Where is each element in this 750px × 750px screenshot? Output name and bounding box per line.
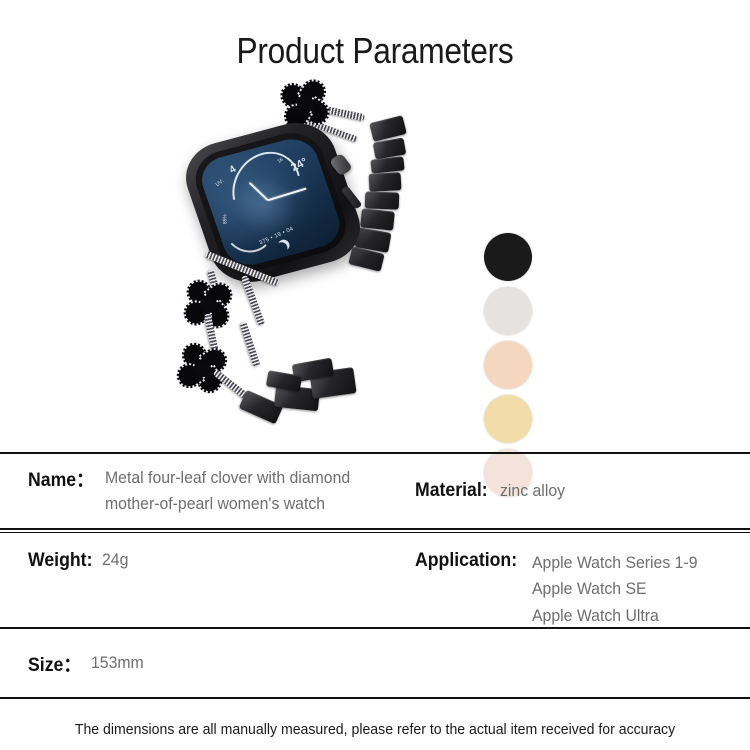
side-button <box>341 186 362 210</box>
band-link <box>360 208 395 230</box>
spec-cell-size: Size： 153mm <box>0 650 415 677</box>
band-chain <box>240 322 261 368</box>
clover-charm <box>278 77 331 130</box>
band-chain <box>241 275 265 326</box>
moon-icon <box>276 238 291 253</box>
spec-label-size: Size： <box>28 650 81 677</box>
watch-screen: UV: 4 16 24° 85% 375 • 19 • 04 <box>195 133 346 270</box>
spec-label-material: Material: <box>415 480 488 502</box>
spec-value-material: zinc alloy <box>500 481 565 501</box>
color-swatch-gold[interactable] <box>484 395 532 443</box>
product-photo: UV: 4 16 24° 85% 375 • 19 • 04 <box>175 85 425 440</box>
band-link <box>365 191 400 209</box>
band-link <box>370 156 404 173</box>
table-row-name: Name： Metal four-leaf clover with diamon… <box>0 454 750 528</box>
spec-value-size: 153mm <box>91 653 144 673</box>
spec-label-name: Name： <box>28 465 94 492</box>
battery-label: 85% <box>223 214 228 224</box>
color-swatch-black[interactable] <box>484 233 532 281</box>
spec-value-name: Metal four-leaf clover with diamond moth… <box>105 465 350 518</box>
spec-cell-application: Application: Apple Watch Series 1-9 Appl… <box>415 533 750 627</box>
spec-value-name-line: Metal four-leaf clover with diamond <box>105 465 350 491</box>
spec-value-application-line: Apple Watch Series 1-9 <box>532 550 697 576</box>
uv-label: UV: <box>215 179 225 188</box>
table-row-weight: Weight: 24g Application: Apple Watch Ser… <box>0 533 750 627</box>
spec-value-application: Apple Watch Series 1-9 Apple Watch SE Ap… <box>532 550 697 629</box>
spec-table: Name： Metal four-leaf clover with diamon… <box>0 452 750 738</box>
watch-case: UV: 4 16 24° 85% 375 • 19 • 04 <box>176 114 370 291</box>
spec-label-weight: Weight: <box>28 550 92 572</box>
color-swatch-silver[interactable] <box>484 287 532 335</box>
band-link <box>369 172 402 192</box>
digital-crown <box>329 153 353 177</box>
clover-charm <box>174 340 230 396</box>
hero-section: UV: 4 16 24° 85% 375 • 19 • 04 <box>0 85 750 440</box>
page-title: Product Parameters <box>45 30 705 72</box>
spec-value-application-line: Apple Watch Ultra <box>532 603 697 629</box>
color-swatch-rose-gold[interactable] <box>484 341 532 389</box>
spec-value-weight: 24g <box>102 550 128 570</box>
spec-label-application: Application: <box>415 550 517 572</box>
spec-cell-material: Material: zinc alloy <box>415 454 750 528</box>
spec-cell-weight: Weight: 24g <box>0 533 415 627</box>
footer-note: The dimensions are all manually measured… <box>23 699 728 738</box>
spec-cell-name: Name： Metal four-leaf clover with diamon… <box>0 465 415 518</box>
spec-value-name-line: mother-of-pearl women's watch <box>105 491 350 517</box>
table-row-size: Size： 153mm <box>0 629 750 697</box>
spec-value-application-line: Apple Watch SE <box>532 576 697 602</box>
